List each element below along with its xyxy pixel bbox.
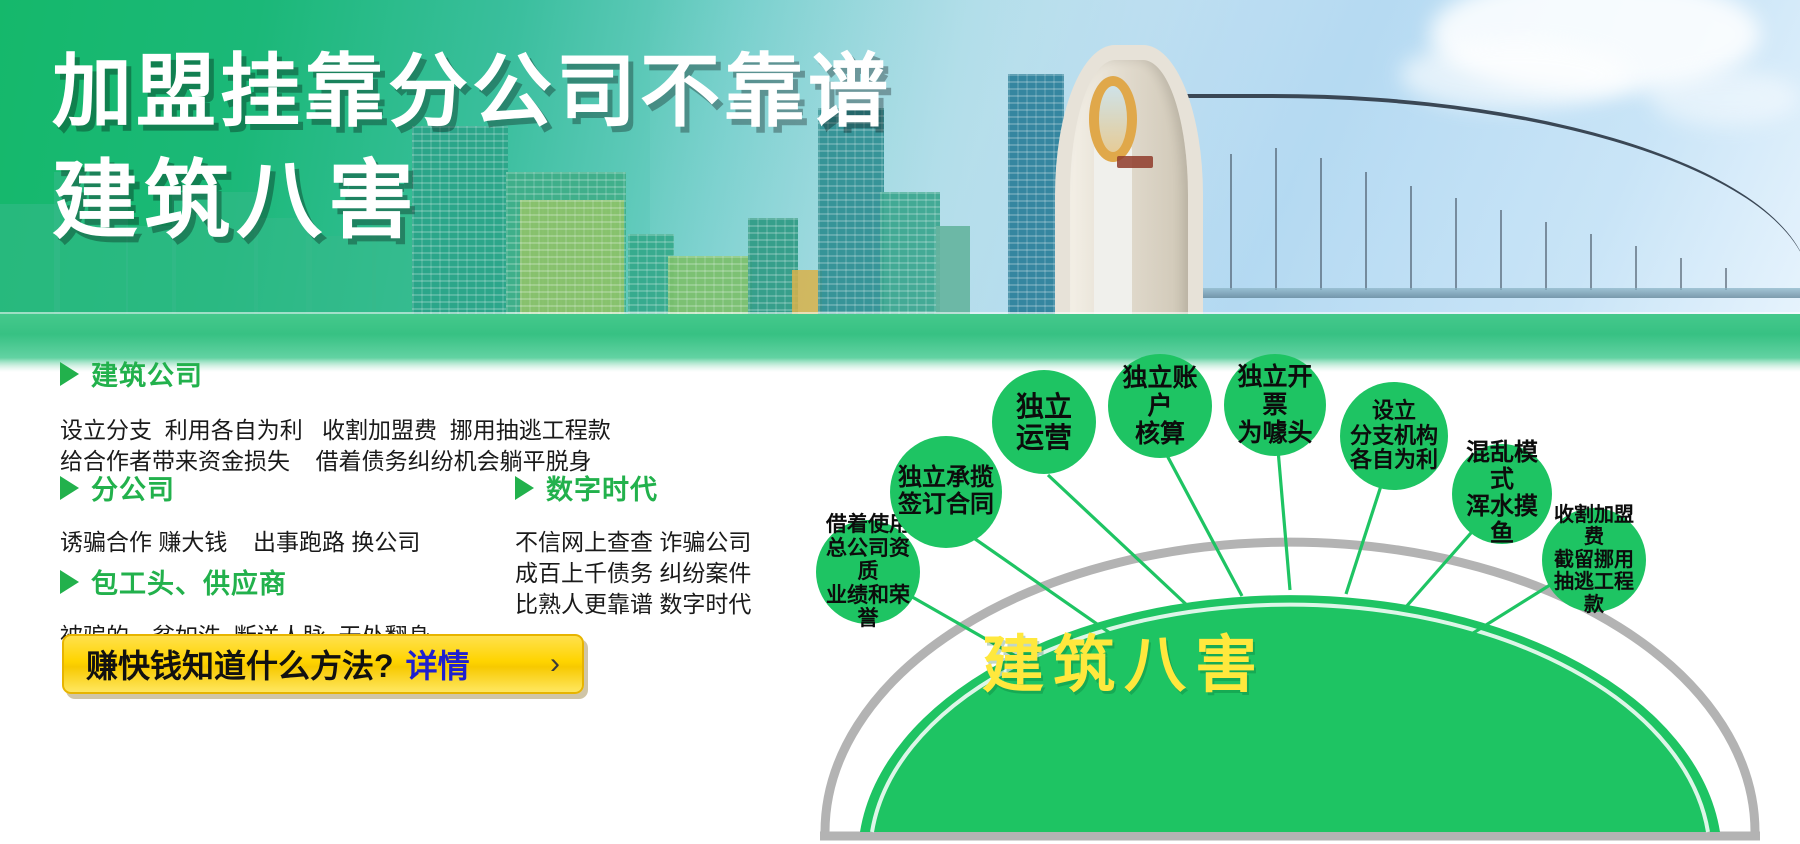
section-title: 包工头、供应商: [91, 562, 287, 601]
bubble-branch-setup: 设立 分支机构 各自为利: [1340, 382, 1448, 490]
body-line: 诱骗合作 赚大钱 出事跑路 换公司: [60, 527, 420, 558]
body-line: 不信网上查查 诈骗公司: [515, 527, 751, 558]
section-heading: 分公司: [60, 468, 420, 507]
section-title: 数字时代: [546, 468, 658, 507]
section-construction-company: 建筑公司 设立分支 利用各自为利 收割加盟费 挪用抽逃工程款 给合作者带来资金损…: [60, 354, 611, 477]
section-heading: 数字时代: [515, 468, 751, 507]
cta-question-label: 赚快钱知道什么方法?: [86, 641, 394, 687]
section-title: 分公司: [91, 468, 175, 507]
bubble-independent-account: 独立账户 核算: [1108, 354, 1212, 458]
eight-harms-diagram: 借着使用 总公司资质 业绩和荣誉 独立承揽 签订合同 独立 运营 独立账户 核算…: [790, 340, 1800, 844]
bubble-label: 收割加盟费 截留挪用 抽逃工程款: [1542, 504, 1646, 616]
triangle-bullet-icon: [60, 570, 79, 594]
bubble-label: 独立 运营: [1012, 391, 1076, 454]
bubble-franchise-fee-harvest: 收割加盟费 截留挪用 抽逃工程款: [1542, 508, 1646, 612]
bubble-label: 借着使用 总公司资质 业绩和荣誉: [816, 513, 920, 631]
bubble-label: 混乱模式 浑水摸鱼: [1452, 440, 1552, 548]
bubble-independent-operation: 独立 运营: [992, 370, 1096, 474]
triangle-bullet-icon: [515, 476, 534, 500]
hero-banner: 加盟挂靠分公司不靠谱 建筑八害: [0, 0, 1800, 372]
triangle-bullet-icon: [60, 476, 79, 500]
triangle-bullet-icon: [60, 362, 79, 386]
body-line: 设立分支 利用各自为利 收割加盟费 挪用抽逃工程款: [60, 415, 611, 446]
bubble-independent-contracting: 独立承揽 签订合同: [890, 436, 1002, 548]
body-line: 比熟人更靠谱 数字时代: [515, 589, 751, 620]
bubble-independent-invoicing: 独立开票 为噱头: [1224, 354, 1326, 456]
bubble-chaotic-model: 混乱模式 浑水摸鱼: [1452, 444, 1552, 544]
dome-center-label: 建筑八害: [982, 614, 1266, 704]
body-line: 成百上千债务 纠纷案件: [515, 558, 751, 589]
bubble-label: 独立承揽 签订合同: [894, 465, 998, 519]
section-branch-company: 分公司 诱骗合作 赚大钱 出事跑路 换公司: [60, 468, 420, 558]
bridge-illustration: [1000, 28, 1800, 328]
bridge-sign-icon: [1117, 156, 1153, 168]
cta-details-link[interactable]: 详情: [406, 641, 470, 687]
section-title: 建筑公司: [91, 354, 203, 393]
bubble-label: 设立 分支机构 各自为利: [1346, 399, 1442, 473]
headline-line-2: 建筑八害: [52, 158, 892, 244]
chevron-right-icon: ›: [550, 647, 560, 681]
section-heading: 建筑公司: [60, 354, 611, 393]
bubble-label: 独立账户 核算: [1108, 364, 1212, 448]
section-body: 不信网上查查 诈骗公司 成百上千债务 纠纷案件 比熟人更靠谱 数字时代: [515, 527, 751, 619]
left-content: 建筑公司 设立分支 利用各自为利 收割加盟费 挪用抽逃工程款 给合作者带来资金损…: [0, 372, 790, 844]
banner-page: 加盟挂靠分公司不靠谱 建筑八害 建筑公司 设立分支 利用各自为利 收割加盟费 挪…: [0, 0, 1800, 844]
cta-button[interactable]: 赚快钱知道什么方法? 详情 ›: [62, 634, 584, 694]
bubble-headquarters-credentials: 借着使用 总公司资质 业绩和荣誉: [816, 520, 920, 624]
section-heading: 包工头、供应商: [60, 562, 431, 601]
headline-line-1: 加盟挂靠分公司不靠谱: [52, 52, 892, 132]
hero-headline: 加盟挂靠分公司不靠谱 建筑八害: [52, 52, 892, 244]
bridge-pylon: [1055, 60, 1175, 328]
section-digital-era: 数字时代 不信网上查查 诈骗公司 成百上千债务 纠纷案件 比熟人更靠谱 数字时代: [515, 468, 751, 619]
section-body: 诱骗合作 赚大钱 出事跑路 换公司: [60, 527, 420, 558]
bubble-label: 独立开票 为噱头: [1224, 363, 1326, 447]
